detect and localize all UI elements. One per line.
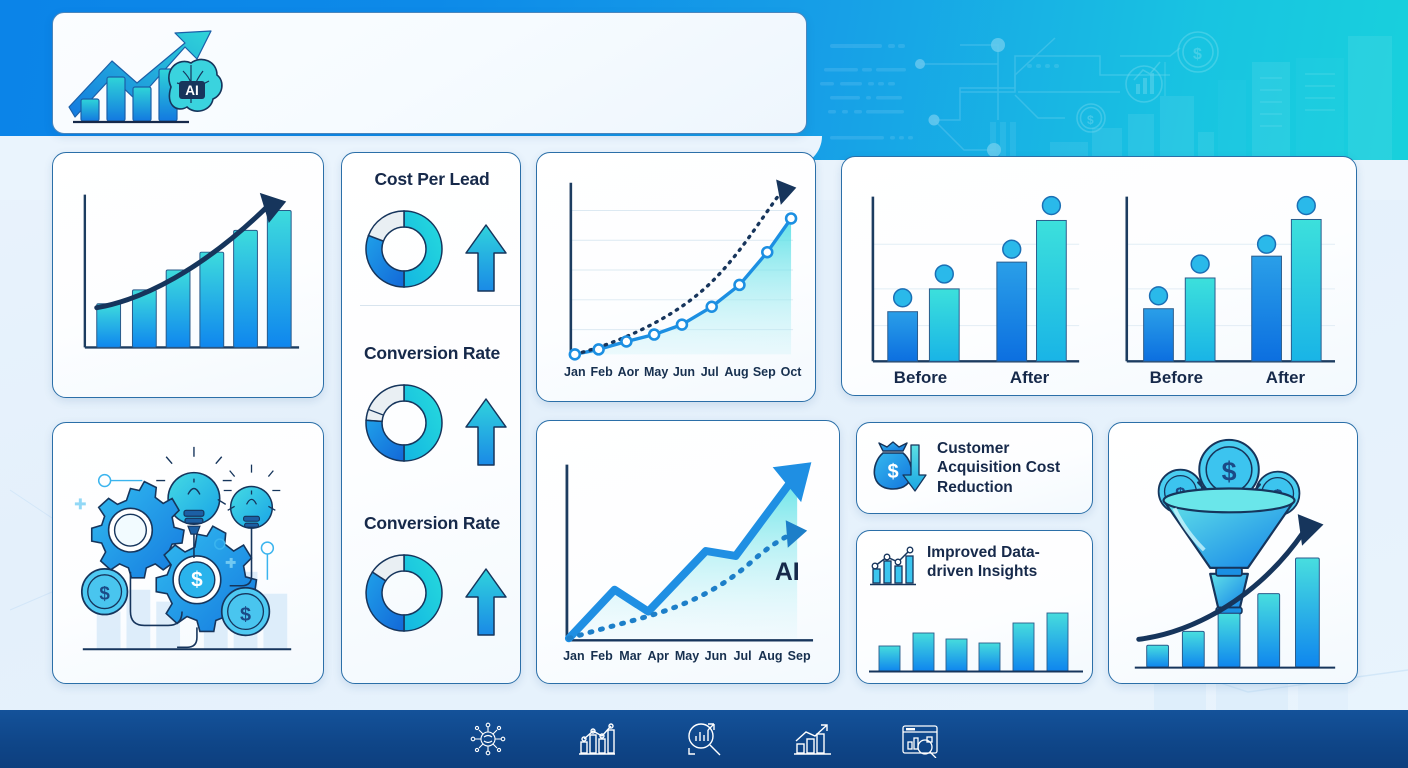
lead-growth-trend-chart: JanFeb AorMay JunJul AugSep Oct [537,153,815,401]
ba-left-label-0: Before [894,368,947,387]
ai-network-node-icon[interactable] [465,719,511,759]
footer-toolbar [0,710,1408,768]
svg-text:Jan: Jan [564,365,586,379]
panel-metrics: Cost Per Lead [341,152,521,684]
svg-text:$: $ [99,583,110,604]
arrow-up-icon-2 [466,569,506,635]
ai-annotation: AI [775,559,800,586]
coin-right: $ [222,588,270,636]
funnel-coins-growth-icon: $ $ $ [1109,423,1357,683]
before-after-charts: Before After Befo [842,157,1356,395]
svg-text:Jan: Jan [563,649,585,663]
metric-title-2: Conversion Rate [342,513,521,534]
donut-chart-icon-2[interactable] [356,547,508,639]
svg-text:Jul: Jul [701,365,719,379]
dashboard-search-report-icon[interactable] [897,719,943,759]
panel-before-after[interactable]: Before After Befo [841,156,1357,396]
header-card: AI [52,12,807,134]
bar-line-analytics-icon[interactable] [573,719,619,759]
panel-funnel[interactable]: $ $ $ [1108,422,1358,684]
bar-line-chart-icon [869,545,917,587]
svg-text:Aug: Aug [724,365,748,379]
before-after-right: Before After [1127,197,1335,387]
metric-item-1[interactable]: Conversion Rate [342,343,521,364]
svg-text:Aug: Aug [758,649,782,663]
coin-left: $ [82,569,128,615]
improved-insights-bar-chart [861,593,1090,679]
panel-benefit-insights[interactable]: Improved Data-driven Insights [856,530,1093,684]
svg-text:Sep: Sep [788,649,811,663]
ba-right-label-1: After [1266,368,1306,387]
ai-x-tick-labels: JanFeb MarApr MayJun JulAug Sep [563,649,811,663]
gears-lightbulbs-coins-icon: $ $ $ [53,423,323,683]
donut-chart-icon-0[interactable] [356,203,508,295]
magnifier-chart-insight-icon[interactable] [681,719,727,759]
svg-text:Sep: Sep [753,365,776,379]
brain-badge-label: AI [185,83,199,98]
metric-item-0[interactable]: Cost Per Lead [342,169,521,190]
arrow-up-icon-0 [466,225,506,291]
metric-title-0: Cost Per Lead [342,169,521,190]
panel-trend-chart[interactable]: JanFeb AorMay JunJul AugSep Oct [536,152,816,402]
svg-text:Jun: Jun [705,649,727,663]
growth-bar-chart [53,153,323,397]
arrow-up-icon-1 [466,399,506,465]
svg-text:$: $ [887,461,898,483]
svg-text:Feb: Feb [590,365,613,379]
svg-text:Mar: Mar [619,649,641,663]
money-bag-down-arrow-icon: $ [869,437,927,499]
svg-text:Jun: Jun [673,365,695,379]
svg-text:May: May [644,365,668,379]
svg-text:Apr: Apr [647,649,669,663]
panel-benefit-cac[interactable]: $ Customer Acquisition Cost Reduction [856,422,1093,514]
svg-text:Aor: Aor [618,365,640,379]
ba-right-label-0: Before [1150,368,1203,387]
svg-text:May: May [675,649,699,663]
benefit-insights-text: Improved Data-driven Insights [927,543,1080,582]
panel-ai-chart[interactable]: AI JanFeb MarApr MayJun JulAug Sep [536,420,840,684]
svg-text:$: $ [191,569,203,592]
svg-text:Feb: Feb [591,649,614,663]
trend-x-tick-labels: JanFeb AorMay JunJul AugSep Oct [564,365,801,379]
ai-growth-arrow-chart-icon: AI [67,21,243,133]
bar-growth-arrow-icon[interactable] [789,719,835,759]
dashboard-stage: $ $ [0,0,1408,768]
ba-left-label-1: After [1010,368,1050,387]
lightbulb-small [224,465,281,529]
svg-text:Jul: Jul [734,649,752,663]
benefit-cac-text: Customer Acquisition Cost Reduction [937,439,1080,497]
before-after-left: Before After [873,197,1079,387]
donut-chart-icon-1[interactable] [356,377,508,469]
svg-text:$: $ [1222,457,1237,487]
panel-growth-chart[interactable] [52,152,324,398]
ai-performance-uplift-chart: AI JanFeb MarApr MayJun JulAug Sep [537,421,839,683]
metric-item-2[interactable]: Conversion Rate [342,513,521,534]
metric-divider-0 [360,305,521,306]
metric-title-1: Conversion Rate [342,343,521,364]
svg-text:Oct: Oct [781,365,802,379]
panel-insight-illustration[interactable]: $ $ $ [52,422,324,684]
svg-text:$: $ [240,603,251,625]
brain-ai-badge: AI [169,59,222,111]
